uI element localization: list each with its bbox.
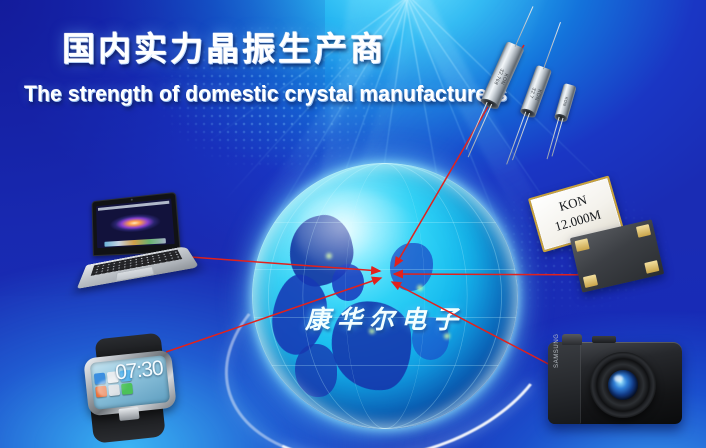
laptop-menubar [98, 201, 169, 211]
promotional-banner: 国内实力晶振生产商 The strength of domestic cryst… [0, 0, 706, 448]
headline-block: 国内实力晶振生产商 The strength of domestic cryst… [0, 22, 706, 107]
laptop-wallpaper [96, 198, 175, 248]
watch-crown [118, 407, 139, 421]
page-subtitle-english: The strength of domestic crystal manufac… [24, 81, 679, 107]
laptop-webcam-icon [131, 199, 133, 201]
smd-solder-pad [636, 224, 651, 238]
smd-solder-pad [575, 238, 590, 252]
smd-solder-pad [644, 260, 659, 274]
camera-brand-label: SAMSUNG [554, 333, 560, 368]
smd-solder-pad [583, 274, 598, 288]
page-title-chinese: 国内实力晶振生产商 [62, 22, 706, 70]
laptop-computer [76, 193, 193, 291]
digital-camera: SAMSUNG [548, 334, 688, 440]
camera-lens [590, 352, 656, 418]
camera-flash [592, 336, 616, 343]
camera-lens-glass [608, 370, 638, 400]
laptop-dock [104, 238, 166, 247]
camera-grip [548, 342, 581, 424]
world-globe [252, 163, 518, 429]
brand-watermark: 康华尔电子 [270, 300, 500, 336]
watch-case: 07:30 [83, 350, 177, 417]
camera-shutter-button[interactable] [562, 334, 582, 345]
laptop-screen [92, 192, 181, 256]
smart-watch: 07:30 [78, 336, 182, 440]
